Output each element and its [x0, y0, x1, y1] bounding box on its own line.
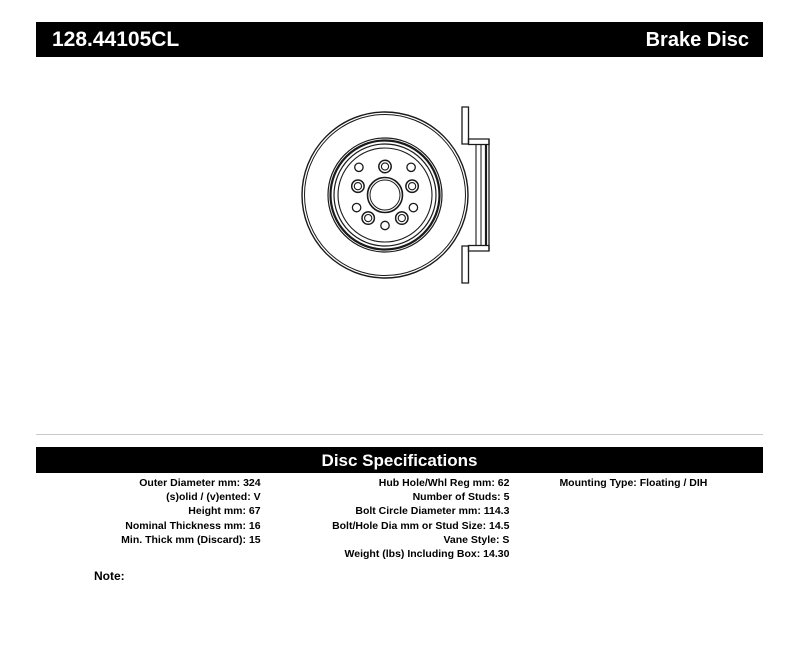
- spec-title-bar: Disc Specifications: [36, 447, 763, 473]
- spec-columns: Outer Diameter mm: 324 (s)olid / (v)ente…: [36, 476, 763, 561]
- rotor-edge-cross-section-view: [462, 107, 489, 283]
- note-label: Note:: [94, 569, 125, 583]
- note-field: Note:: [94, 570, 125, 582]
- spec-line: Nominal Thickness mm: 16: [36, 519, 261, 533]
- spec-line: Height mm: 67: [36, 504, 261, 518]
- spec-line: (s)olid / (v)ented: V: [36, 490, 261, 504]
- spec-line: Number of Studs: 5: [277, 490, 510, 504]
- header-bar: 128.44105CL Brake Disc: [36, 22, 763, 57]
- spec-line: Weight (lbs) Including Box: 14.30: [277, 547, 510, 561]
- spec-line: Bolt/Hole Dia mm or Stud Size: 14.5: [277, 519, 510, 533]
- rotor-face-view: [302, 112, 468, 278]
- spec-line: Hub Hole/Whl Reg mm: 62: [277, 476, 510, 490]
- spec-column-left: Outer Diameter mm: 324 (s)olid / (v)ente…: [36, 476, 277, 547]
- spec-line: Bolt Circle Diameter mm: 114.3: [277, 504, 510, 518]
- spec-line: Mounting Type: Floating / DIH: [559, 476, 763, 490]
- spec-line: Vane Style: S: [277, 533, 510, 547]
- brake-disc-illustration: [0, 95, 800, 295]
- spec-line: Outer Diameter mm: 324: [36, 476, 261, 490]
- spec-column-right: Mounting Type: Floating / DIH: [519, 476, 763, 490]
- spec-column-middle: Hub Hole/Whl Reg mm: 62 Number of Studs:…: [277, 476, 520, 561]
- product-drawing: [0, 95, 800, 295]
- spec-title: Disc Specifications: [322, 452, 478, 469]
- spec-line: Min. Thick mm (Discard): 15: [36, 533, 261, 547]
- product-type-title: Brake Disc: [646, 30, 749, 50]
- section-divider: [36, 434, 763, 435]
- part-number: 128.44105CL: [52, 29, 179, 50]
